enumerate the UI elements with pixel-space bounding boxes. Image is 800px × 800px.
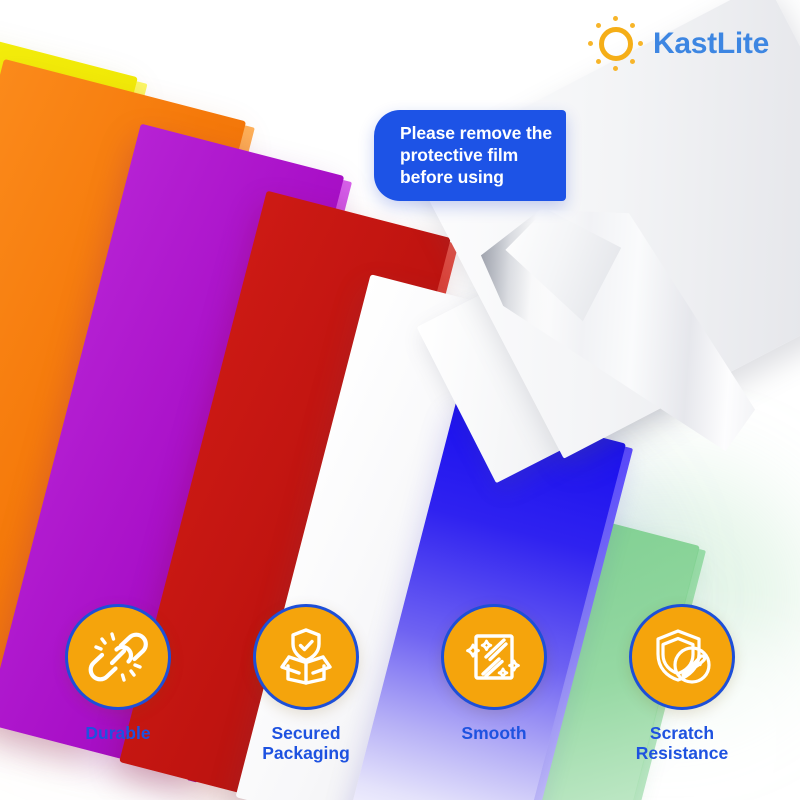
- sun-ray-n: [613, 16, 618, 21]
- callout-text: Please remove the protective film before…: [400, 122, 552, 188]
- feature-label: Secured Packaging: [262, 723, 350, 764]
- feature-icon-circle: [253, 604, 359, 710]
- chain-link-icon: [86, 625, 150, 689]
- feature-row: Durable Secured Packaging: [0, 604, 800, 764]
- sun-ray-s: [613, 66, 618, 71]
- sun-ray-se: [630, 59, 635, 64]
- feature-label: Scratch Resistance: [636, 723, 728, 764]
- feature-icon-circle: [441, 604, 547, 710]
- feature-smooth: Smooth: [408, 604, 580, 744]
- feature-durable: Durable: [32, 604, 204, 744]
- feature-label: Durable: [85, 723, 150, 744]
- protective-film-callout: Please remove the protective film before…: [374, 110, 566, 201]
- protective-film-shadow: [476, 184, 760, 481]
- brand-wordmark: KastLite: [653, 27, 769, 61]
- shield-blade-icon: [650, 625, 714, 689]
- feature-icon-circle: [65, 604, 171, 710]
- sun-ray-sw: [596, 59, 601, 64]
- sun-ray-nw: [596, 23, 601, 28]
- feature-secured-packaging: Secured Packaging: [220, 604, 392, 764]
- sun-ray-ne: [630, 23, 635, 28]
- feature-icon-circle: [629, 604, 735, 710]
- sun-ray-w: [588, 41, 593, 46]
- sun-icon: [588, 16, 644, 72]
- protective-film-peel: [476, 184, 760, 481]
- sun-ring: [599, 27, 633, 61]
- feature-label: Smooth: [461, 723, 526, 744]
- sparkle-panel-icon: [462, 625, 526, 689]
- product-marketing-image: KastLite Please remove the protective fi…: [0, 0, 800, 800]
- brand-logo: KastLite: [588, 16, 769, 72]
- feature-scratch-resistance: Scratch Resistance: [596, 604, 768, 764]
- shield-box-icon: [274, 625, 338, 689]
- sun-ray-e: [638, 41, 643, 46]
